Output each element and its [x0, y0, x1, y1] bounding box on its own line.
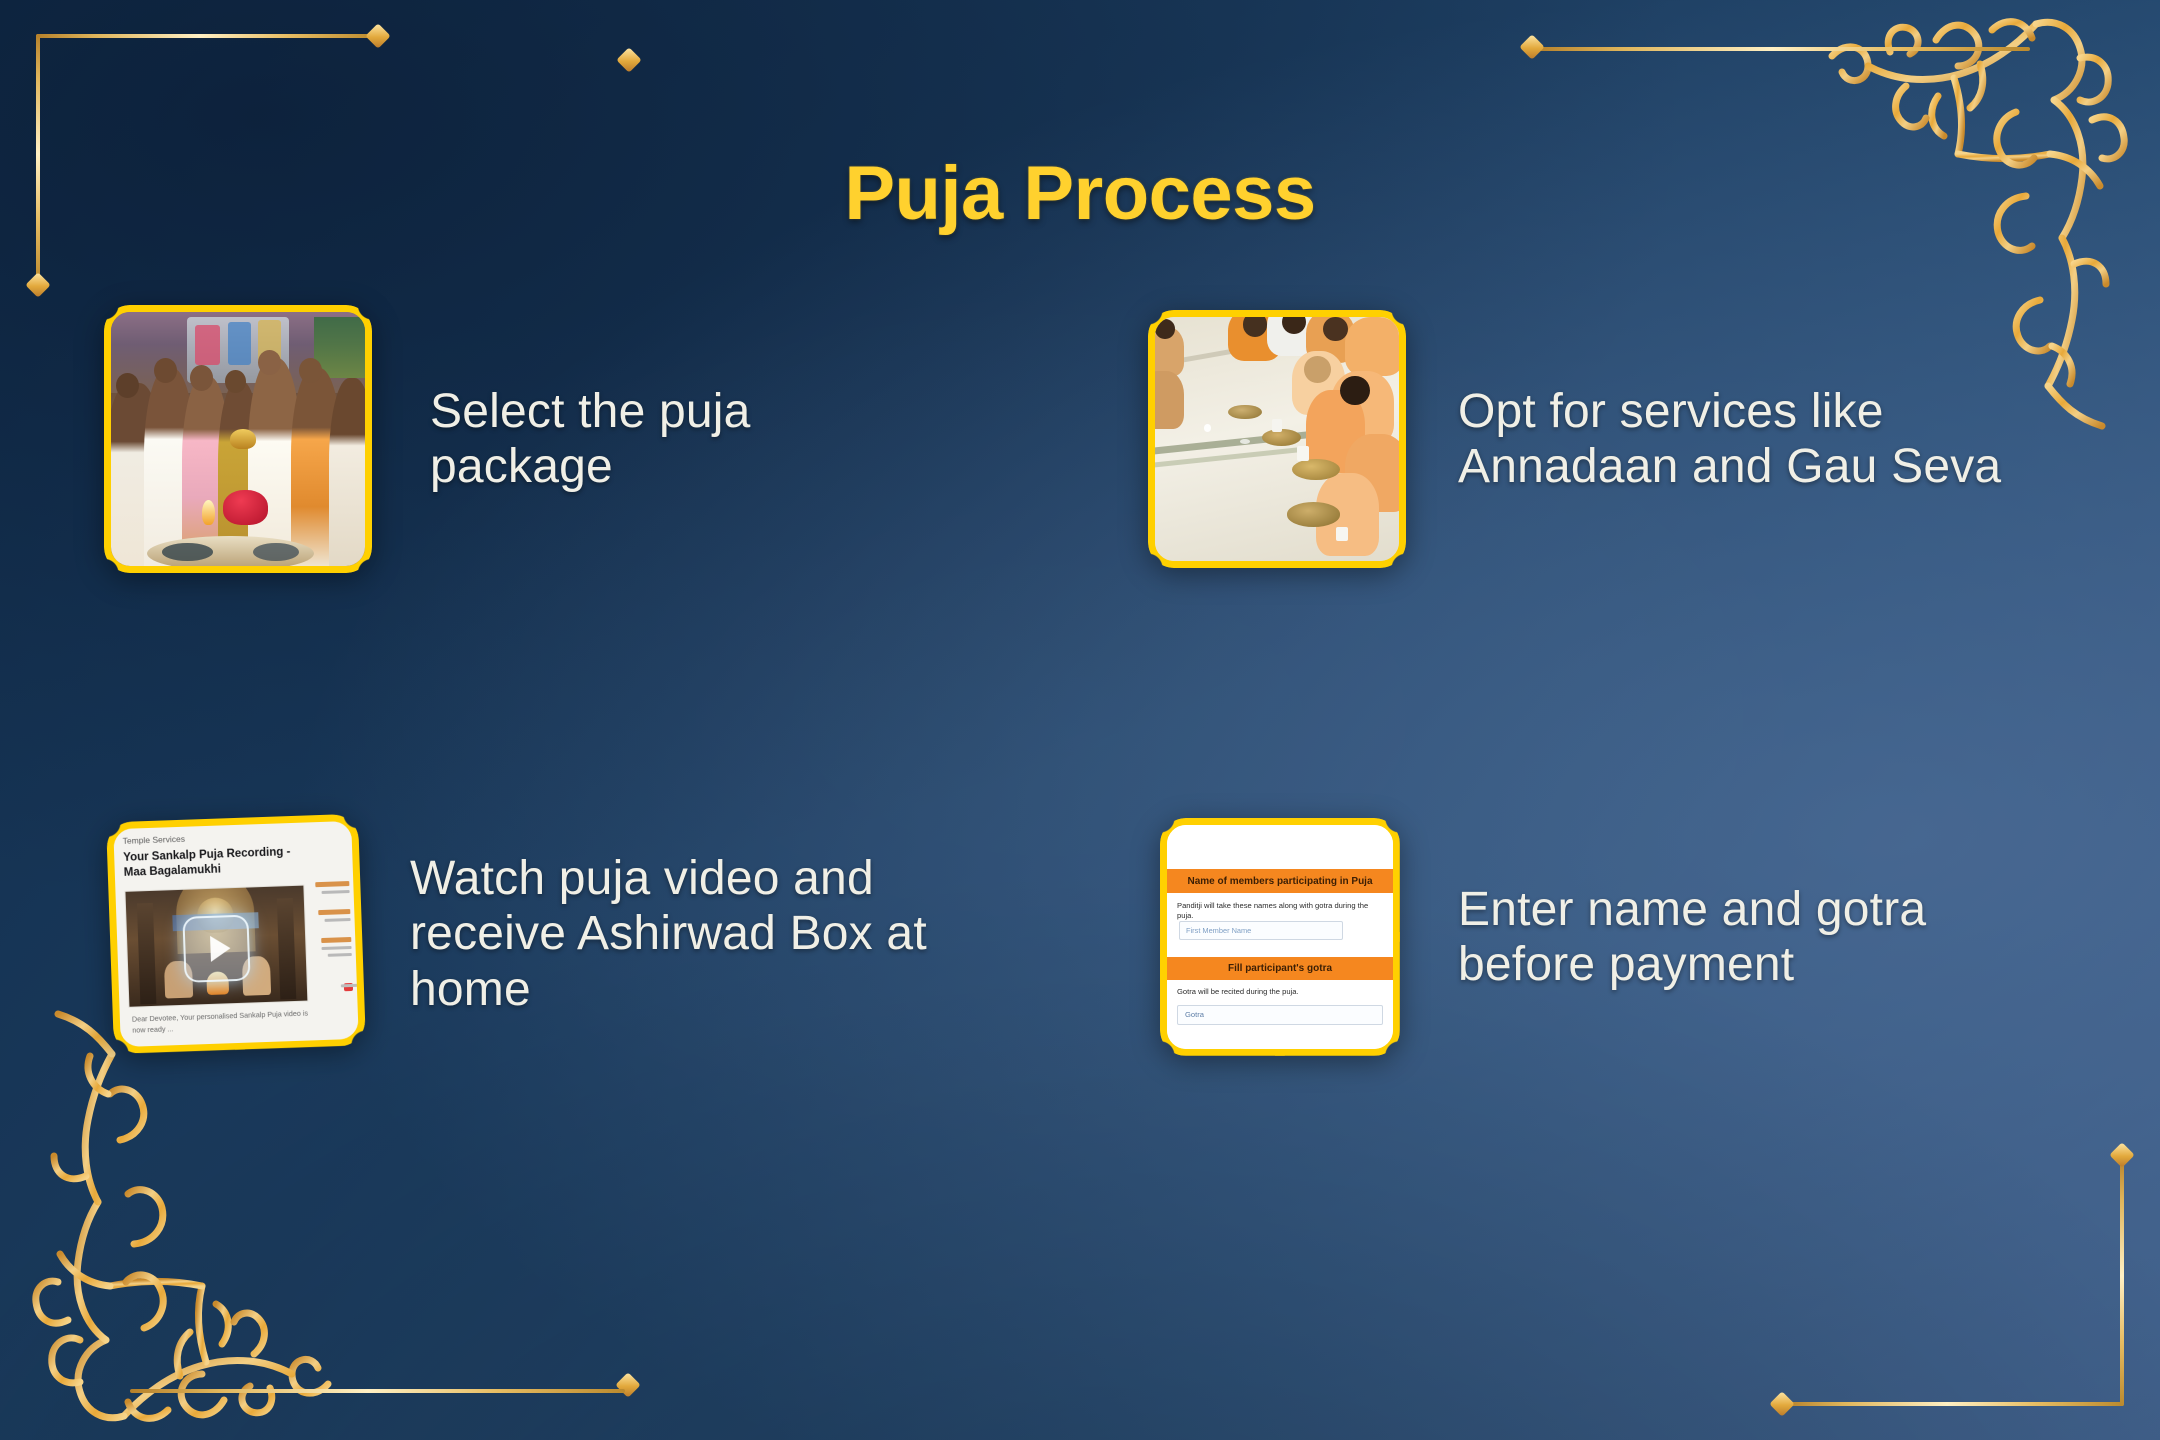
step-caption: Select the puja package — [430, 384, 900, 494]
step-item-opt-services: Opt for services like Annadaan and Gau S… — [1148, 310, 2018, 568]
corner-diamond-icon — [616, 47, 641, 72]
email-subject: Your Sankalp Puja Recording - Maa Bagala… — [123, 845, 302, 881]
thumbnail-opt-services[interactable] — [1148, 310, 1406, 568]
gotra-form-screenshot: Name of members participating in Puja Pa… — [1160, 818, 1400, 1056]
form-note-names: Panditji will take these names along wit… — [1177, 901, 1385, 921]
gotra-input[interactable]: Gotra — [1177, 1005, 1383, 1025]
first-member-name-placeholder: First Member Name — [1186, 926, 1251, 935]
corner-line-horizontal — [1784, 1402, 2124, 1406]
corner-diamond-icon — [365, 23, 390, 48]
corner-line-horizontal — [36, 34, 376, 38]
step-item-enter-name-gotra: Name of members participating in Puja Pa… — [1160, 818, 2058, 1056]
corner-diamond-icon — [1769, 1391, 1794, 1416]
step-caption: Opt for services like Annadaan and Gau S… — [1458, 384, 2018, 494]
step-item-watch-video: Temple Services Your Sankalp Puja Record… — [110, 818, 1030, 1050]
step-caption: Enter name and gotra before payment — [1458, 882, 2058, 992]
thumbnail-watch-video[interactable]: Temple Services Your Sankalp Puja Record… — [106, 814, 366, 1055]
corner-diamond-icon — [2109, 1142, 2134, 1167]
page-title: Puja Process — [0, 150, 2160, 237]
form-note-gotra: Gotra will be recited during the puja. — [1177, 987, 1385, 997]
gotra-placeholder: Gotra — [1185, 1010, 1204, 1019]
form-section-header-names: Name of members participating in Puja — [1167, 869, 1393, 893]
ornate-rail-horizontal — [130, 1389, 625, 1393]
slide-canvas: Puja Process — [0, 0, 2160, 1440]
puja-recording-email-screenshot: Temple Services Your Sankalp Puja Record… — [106, 814, 366, 1055]
corner-diamond-icon — [25, 272, 50, 297]
step-caption: Watch puja video and receive Ashirwad Bo… — [410, 851, 1030, 1017]
corner-diamond-icon — [615, 1372, 640, 1397]
step-item-select-package: Select the puja package — [104, 305, 900, 573]
thumbnail-select-package[interactable] — [104, 305, 372, 573]
priests-performing-puja-photo — [104, 305, 372, 573]
ornate-rail-horizontal — [1535, 47, 2030, 51]
corner-line-vertical — [2120, 1156, 2124, 1406]
first-member-name-input[interactable]: First Member Name — [1179, 921, 1343, 940]
form-section-header-gotra: Fill participant's gotra — [1167, 957, 1393, 980]
annadaan-prasad-rows-photo — [1148, 310, 1406, 568]
bottom-left-ornate-corner — [0, 1010, 420, 1440]
play-button-icon[interactable] — [182, 914, 250, 982]
corner-diamond-icon — [1519, 34, 1544, 59]
thumbnail-gotra-form[interactable]: Name of members participating in Puja Pa… — [1160, 818, 1400, 1056]
